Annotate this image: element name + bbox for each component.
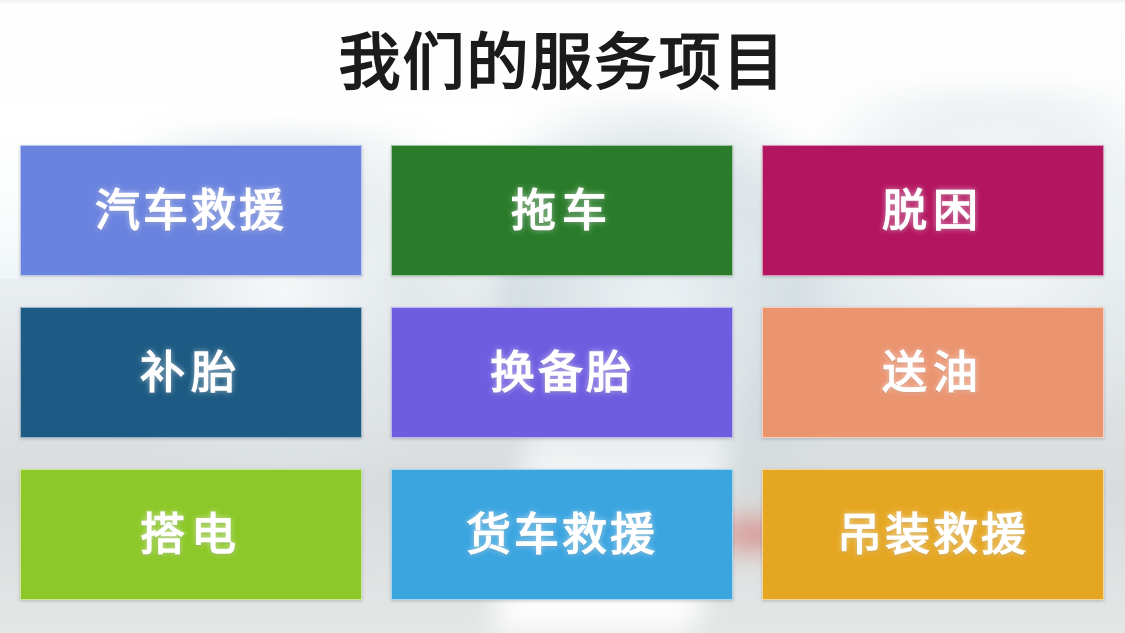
service-tile-label: 换备胎 <box>490 350 634 395</box>
service-tile-label: 送油 <box>882 350 984 395</box>
service-tile[interactable]: 送油 <box>762 307 1104 438</box>
service-tile[interactable]: 货车救援 <box>391 469 733 600</box>
service-tile-label: 脱困 <box>882 188 984 233</box>
service-tile-label: 货车救援 <box>466 512 658 557</box>
service-tile-label: 拖车 <box>511 188 613 233</box>
service-tile[interactable]: 汽车救援 <box>20 145 362 276</box>
service-tile[interactable]: 拖车 <box>391 145 733 276</box>
page-header: 我们的服务项目 <box>0 0 1125 128</box>
service-grid: 汽车救援拖车脱困补胎换备胎送油搭电货车救援吊装救援 <box>20 145 1105 600</box>
service-tile[interactable]: 搭电 <box>20 469 362 600</box>
service-tile[interactable]: 换备胎 <box>391 307 733 438</box>
service-tile-label: 搭电 <box>140 512 242 557</box>
page-title: 我们的服务项目 <box>338 33 786 95</box>
service-tile[interactable]: 脱困 <box>762 145 1104 276</box>
service-tile[interactable]: 吊装救援 <box>762 469 1104 600</box>
service-tile-label: 补胎 <box>140 350 242 395</box>
service-tile-label: 吊装救援 <box>837 512 1029 557</box>
service-tile-label: 汽车救援 <box>95 188 287 233</box>
service-poster: 我们的服务项目 汽车救援拖车脱困补胎换备胎送油搭电货车救援吊装救援 <box>0 0 1125 633</box>
service-tile[interactable]: 补胎 <box>20 307 362 438</box>
